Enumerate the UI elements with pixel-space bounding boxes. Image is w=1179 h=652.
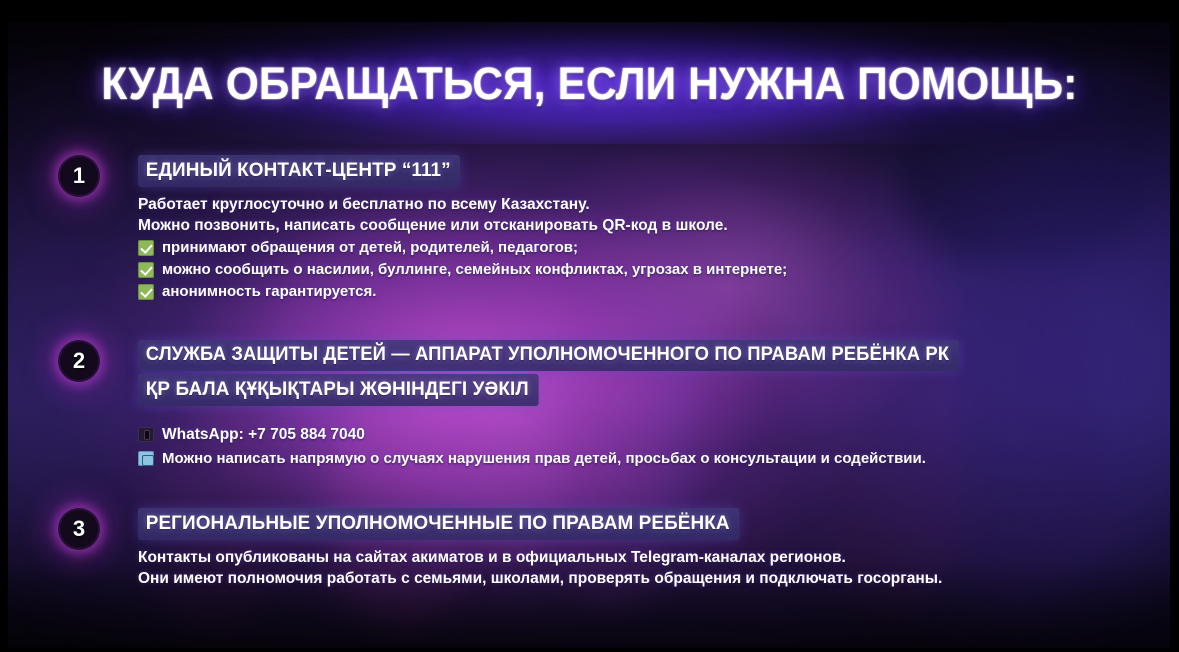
help-section-3: 3 РЕГИОНАЛЬНЫЕ УПОЛНОМОЧЕННЫЕ ПО ПРАВАМ … xyxy=(60,508,1139,589)
page-title: КУДА ОБРАЩАТЬСЯ, ЕСЛИ НУЖНА ПОМОЩЬ: xyxy=(35,58,1143,110)
help-section-1: 1 ЕДИНЫЙ КОНТАКТ-ЦЕНТР “111” Работает кр… xyxy=(60,155,1139,302)
section-number-badge: 1 xyxy=(60,157,98,195)
section-1-bullet-3: анонимность гарантируется. xyxy=(162,281,376,302)
section-2-note: Можно написать напрямую о случаях наруше… xyxy=(162,448,926,469)
whatsapp-number: WhatsApp: +7 705 884 7040 xyxy=(162,424,365,445)
section-1-body: Работает круглосуточно и бесплатно по вс… xyxy=(138,194,1139,302)
list-item: принимают обращения от детей, родителей,… xyxy=(138,237,1139,258)
phone-icon xyxy=(138,427,154,442)
section-1-bullet-2: можно сообщить о насилии, буллинге, семе… xyxy=(162,259,787,280)
list-item: можно сообщить о насилии, буллинге, семе… xyxy=(138,259,1139,280)
section-3-title: РЕГИОНАЛЬНЫЕ УПОЛНОМОЧЕННЫЕ ПО ПРАВАМ РЕ… xyxy=(138,508,739,540)
section-1-line-1: Работает круглосуточно и бесплатно по вс… xyxy=(138,194,1139,215)
section-number-badge: 2 xyxy=(60,342,98,380)
check-icon xyxy=(138,284,154,300)
section-number-badge: 3 xyxy=(60,510,98,548)
whatsapp-contact-row[interactable]: WhatsApp: +7 705 884 7040 xyxy=(138,424,1139,445)
section-1-line-2: Можно позвонить, написать сообщение или … xyxy=(138,215,1139,236)
section-3-line-1: Контакты опубликованы на сайтах акиматов… xyxy=(138,547,1139,568)
section-2-body: WhatsApp: +7 705 884 7040 Можно написать… xyxy=(138,424,1139,469)
message-note-row: Можно написать напрямую о случаях наруше… xyxy=(138,448,1139,469)
video-frame: КУДА ОБРАЩАТЬСЯ, ЕСЛИ НУЖНА ПОМОЩЬ: 1 ЕД… xyxy=(0,0,1179,652)
section-3-line-2: Они имеют полномочия работать с семьями,… xyxy=(138,568,1139,589)
slide-content: КУДА ОБРАЩАТЬСЯ, ЕСЛИ НУЖНА ПОМОЩЬ: 1 ЕД… xyxy=(0,0,1179,652)
section-2-title-ru: СЛУЖБА ЗАЩИТЫ ДЕТЕЙ — АППАРАТ УПОЛНОМОЧЕ… xyxy=(138,340,959,371)
check-icon xyxy=(138,240,154,256)
list-item: анонимность гарантируется. xyxy=(138,281,1139,302)
message-icon xyxy=(138,451,154,466)
section-1-title: ЕДИНЫЙ КОНТАКТ-ЦЕНТР “111” xyxy=(138,155,460,187)
section-2-title-kk: ҚР БАЛА ҚҰҚЫҚТАРЫ ЖӨНІНДЕГІ УӘКІЛ xyxy=(138,374,538,406)
section-3-body: Контакты опубликованы на сайтах акиматов… xyxy=(138,547,1139,589)
check-icon xyxy=(138,262,154,278)
section-1-bullet-1: принимают обращения от детей, родителей,… xyxy=(162,237,578,258)
help-section-2: 2 СЛУЖБА ЗАЩИТЫ ДЕТЕЙ — АППАРАТ УПОЛНОМО… xyxy=(60,340,1139,469)
